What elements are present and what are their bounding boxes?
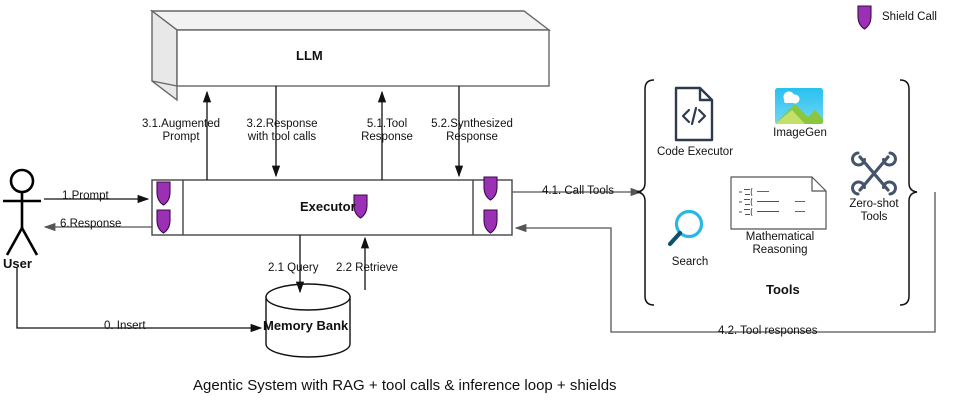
code-document-icon (676, 88, 712, 140)
user-label: User (3, 257, 32, 270)
edge-label-response-tool-calls: 3.2.Response with tool calls (240, 118, 324, 144)
executor-label: Executor (300, 200, 356, 213)
legend-shield-label: Shield Call (882, 11, 937, 24)
edge-label-retrieve: 2.2 Retrieve (336, 262, 398, 275)
edge-label-prompt: 1.Prompt (62, 190, 109, 203)
edge-label-tool-responses: 4.2. Tool responses (718, 325, 818, 338)
diagram-caption: Agentic System with RAG + tool calls & i… (193, 377, 617, 394)
edge-label-insert: 0. Insert (104, 320, 146, 333)
tools-group-label: Tools (766, 283, 800, 296)
diagram-vectors (0, 0, 970, 411)
tool-label-mathematical-reasoning: Mathematical Reasoning (740, 231, 820, 257)
shield-icon (858, 6, 871, 29)
edge-label-synthesized-response: 5.2.Synthesized Response (428, 118, 516, 144)
crossed-wrenches-icon (853, 153, 896, 194)
edge-label-augmented-prompt: 3.1.Augmented Prompt (142, 118, 220, 144)
tool-label-imagegen: ImageGen (773, 127, 827, 140)
edge-label-call-tools: 4.1. Call Tools (542, 185, 614, 198)
edge-label-query: 2.1 Query (268, 262, 319, 275)
llm-node-shape (152, 11, 549, 100)
math-document-icon (731, 177, 826, 229)
tool-label-code-executor: Code Executor (653, 146, 737, 159)
image-icon (775, 88, 823, 124)
magnifier-icon (670, 212, 702, 245)
memory-bank-label: Memory Bank (263, 319, 348, 332)
user-stick-figure (3, 170, 41, 255)
tool-label-zero-shot-tools: Zero-shot Tools (843, 198, 905, 224)
edge-label-tool-response: 5.1.Tool Response (354, 118, 420, 144)
insert-edge (17, 268, 261, 328)
edge-label-response: 6.Response (60, 218, 121, 231)
llm-label: LLM (296, 49, 323, 62)
diagram-canvas: LLM Executor Memory Bank User Tools 1.Pr… (0, 0, 970, 411)
tool-label-search: Search (666, 256, 714, 269)
